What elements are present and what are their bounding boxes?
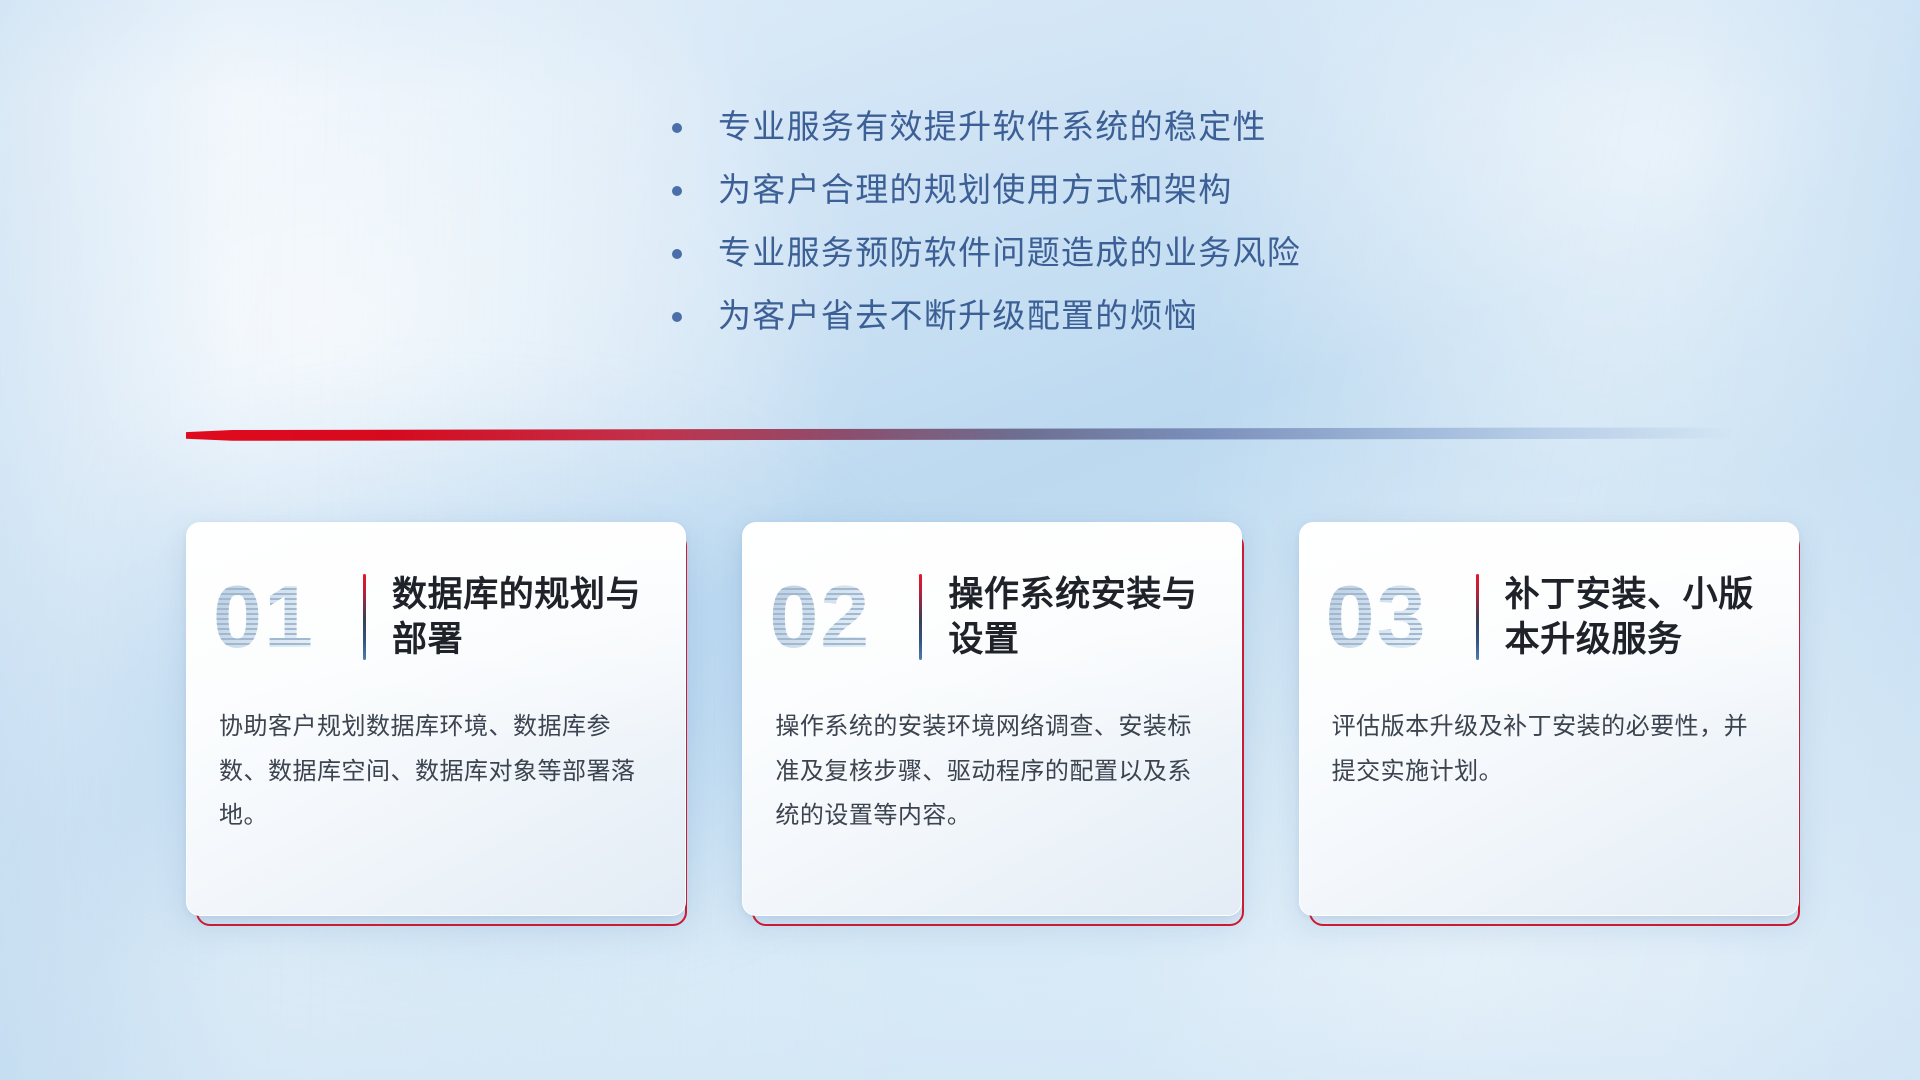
list-item: 专业服务预防软件问题造成的业务风险 — [672, 234, 1532, 273]
card-surface: 02 操作系统安装与设置 操作系统的安装环境网络调查、安装标准及复核步骤、驱动程… — [742, 522, 1242, 916]
bullet-text: 为客户省去不断升级配置的烦恼 — [718, 297, 1198, 336]
bullet-dot-icon — [672, 249, 682, 259]
list-item: 为客户省去不断升级配置的烦恼 — [672, 297, 1532, 336]
card-body-text: 评估版本升级及补丁安装的必要性，并提交实施计划。 — [1300, 673, 1798, 794]
card-title: 操作系统安装与设置 — [948, 572, 1241, 663]
bullet-text: 专业服务预防软件问题造成的业务风险 — [718, 234, 1301, 273]
bullet-dot-icon — [672, 123, 682, 133]
card-divider-bar — [1476, 574, 1479, 660]
list-item: 为客户合理的规划使用方式和架构 — [672, 171, 1532, 210]
bullet-text: 为客户合理的规划使用方式和架构 — [718, 171, 1233, 210]
list-item: 专业服务有效提升软件系统的稳定性 — [672, 108, 1532, 147]
card-divider-bar — [363, 574, 366, 660]
slide-canvas: 专业服务有效提升软件系统的稳定性 为客户合理的规划使用方式和架构 专业服务预防软… — [0, 0, 1920, 1080]
bullet-dot-icon — [672, 312, 682, 322]
card-number: 03 — [1326, 573, 1476, 661]
service-card-row: 01 数据库的规划与部署 协助客户规划数据库环境、数据库参数、数据库空间、数据库… — [186, 522, 1798, 922]
card-body-text: 操作系统的安装环境网络调查、安装标准及复核步骤、驱动程序的配置以及系统的设置等内… — [743, 673, 1241, 839]
bullet-text: 专业服务有效提升软件系统的稳定性 — [718, 108, 1267, 147]
benefits-bullet-list: 专业服务有效提升软件系统的稳定性 为客户合理的规划使用方式和架构 专业服务预防软… — [672, 108, 1532, 360]
divider-wedge — [186, 427, 1734, 442]
card-divider-bar — [919, 574, 922, 660]
card-body-text: 协助客户规划数据库环境、数据库参数、数据库空间、数据库对象等部署落地。 — [187, 673, 685, 839]
service-card-01[interactable]: 01 数据库的规划与部署 协助客户规划数据库环境、数据库参数、数据库空间、数据库… — [186, 522, 685, 922]
card-surface: 01 数据库的规划与部署 协助客户规划数据库环境、数据库参数、数据库空间、数据库… — [186, 522, 686, 916]
card-number: 02 — [769, 573, 919, 661]
card-surface: 03 补丁安装、小版本升级服务 评估版本升级及补丁安装的必要性，并提交实施计划。 — [1299, 522, 1799, 916]
card-header: 02 操作系统安装与设置 — [743, 523, 1241, 673]
card-title: 补丁安装、小版本升级服务 — [1505, 572, 1798, 663]
service-card-03[interactable]: 03 补丁安装、小版本升级服务 评估版本升级及补丁安装的必要性，并提交实施计划。 — [1299, 522, 1798, 922]
card-number: 01 — [213, 573, 363, 661]
card-header: 03 补丁安装、小版本升级服务 — [1300, 523, 1798, 673]
service-card-02[interactable]: 02 操作系统安装与设置 操作系统的安装环境网络调查、安装标准及复核步骤、驱动程… — [742, 522, 1241, 922]
bullet-dot-icon — [672, 186, 682, 196]
card-header: 01 数据库的规划与部署 — [187, 523, 685, 673]
section-divider — [186, 427, 1734, 442]
card-title: 数据库的规划与部署 — [392, 572, 685, 663]
